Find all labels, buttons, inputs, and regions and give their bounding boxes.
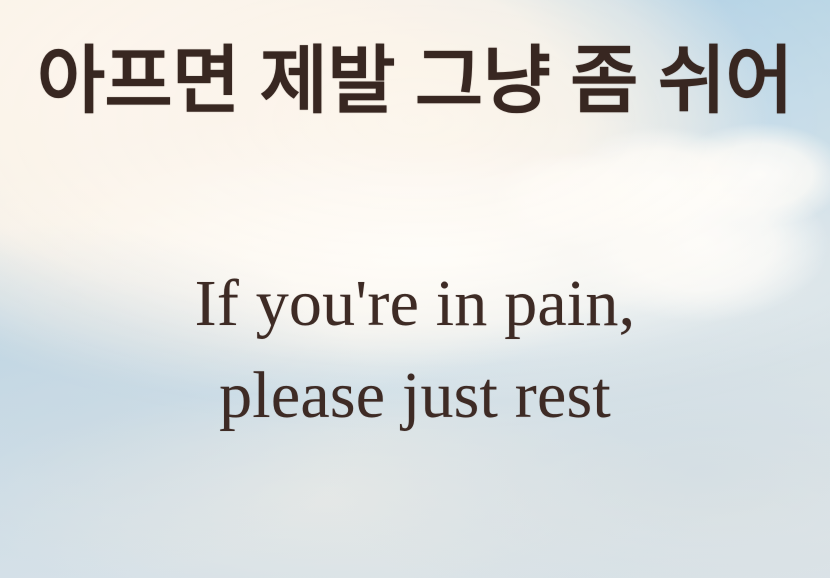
subhead-english-line-1: If you're in pain, [0, 258, 830, 350]
subhead-english-line-2: please just rest [0, 350, 830, 442]
quote-card: 아프면 제발 그냥 좀 쉬어 If you're in pain, please… [0, 0, 830, 578]
quote-text-stack: 아프면 제발 그냥 좀 쉬어 If you're in pain, please… [0, 0, 830, 578]
headline-korean: 아프면 제발 그냥 좀 쉬어 [0, 44, 830, 118]
subhead-english: If you're in pain, please just rest [0, 258, 830, 442]
